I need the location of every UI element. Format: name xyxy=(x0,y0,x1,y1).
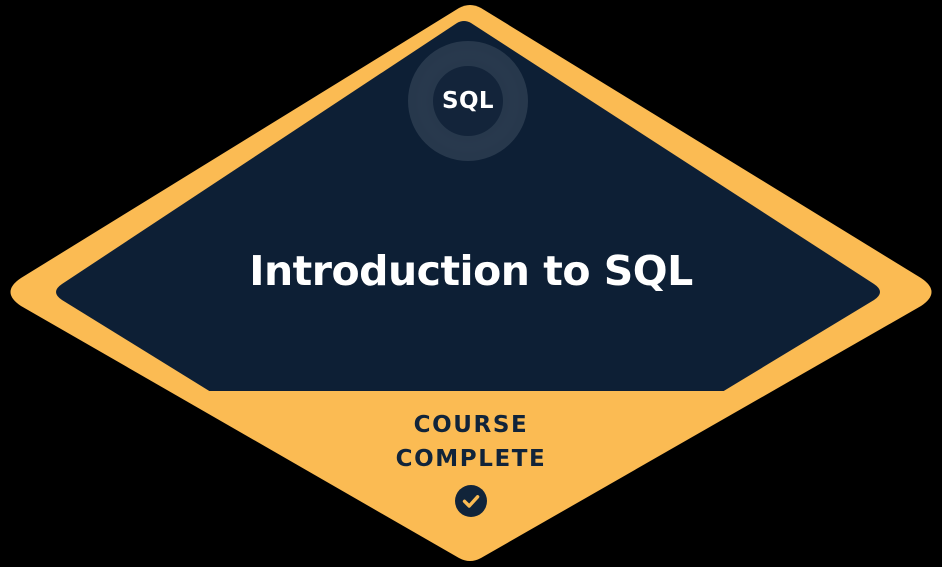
status-line-complete: COMPLETE xyxy=(0,442,942,476)
course-title: Introduction to SQL xyxy=(0,245,942,297)
check-badge-wrap xyxy=(0,484,942,518)
course-completion-badge[interactable]: SQL Introduction to SQL COURSE COMPLETE xyxy=(0,0,942,567)
sql-emblem: SQL xyxy=(408,41,528,161)
course-status-block: COURSE COMPLETE xyxy=(0,408,942,518)
sql-emblem-label: SQL xyxy=(442,90,494,113)
check-circle-icon xyxy=(454,484,488,518)
status-line-course: COURSE xyxy=(0,408,942,442)
